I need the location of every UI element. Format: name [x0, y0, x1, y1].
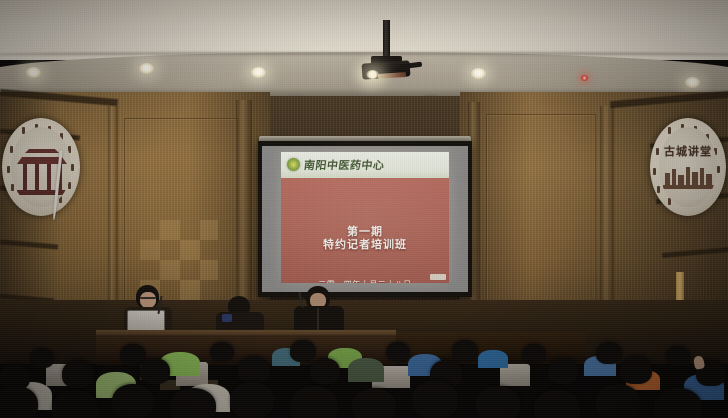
- attendee-head: [310, 358, 340, 384]
- pavilion-medallion: [2, 118, 80, 216]
- ceiling-indicator-light-icon: [581, 75, 588, 81]
- lecture-hall-photo: 古城讲堂 南阳中医药中心 第一期 特约记者培训班 二零一四年十月二: [0, 0, 728, 418]
- wall-trim-band: [0, 239, 58, 249]
- attendee-head: [352, 388, 396, 418]
- ceiling-upper-surface: [0, 0, 728, 60]
- attendee-head: [112, 384, 154, 418]
- attendee-head: [170, 388, 216, 418]
- pavilion-column: [47, 164, 51, 192]
- projector-lens-icon: [366, 70, 379, 79]
- glasses-icon: [140, 297, 156, 299]
- presenter-face: [140, 292, 156, 308]
- attendee-head: [62, 360, 94, 388]
- attendee-head: [230, 382, 274, 418]
- slide-header-bar: 南阳中医药中心: [281, 152, 449, 179]
- ceiling-downlight-icon: [139, 63, 154, 74]
- slide-organization-name: 南阳中医药中心: [303, 157, 385, 173]
- attendee-head: [654, 388, 702, 418]
- pavilion-base: [17, 190, 67, 195]
- attendee-head: [596, 342, 622, 364]
- slide-body: 第一期 特约记者培训班 二零一四年十月二十八日: [281, 178, 449, 283]
- medallion-inner-disc: 古城讲堂: [659, 127, 717, 207]
- projector-mount-pole: [383, 20, 390, 60]
- lecture-hall-medallion: 古城讲堂: [650, 118, 726, 216]
- ceiling-downlight-icon: [251, 67, 266, 78]
- ceiling-downlight-icon: [685, 77, 700, 88]
- medallion-inner-disc: [11, 127, 71, 207]
- slide-date: 二零一四年十月二十八日: [281, 279, 449, 283]
- medallion-figure: [717, 166, 720, 173]
- attendee-head: [30, 348, 54, 368]
- raised-hand: [693, 355, 705, 370]
- attendee-head: [452, 340, 478, 362]
- slide-title-line-2: 特约记者培训班: [281, 236, 449, 252]
- attendee-head: [290, 340, 316, 362]
- attendee-head: [0, 386, 38, 418]
- attendee-head: [140, 358, 170, 384]
- attendee-head: [548, 358, 578, 384]
- attendee-head: [238, 356, 270, 384]
- attendee-head: [666, 346, 690, 366]
- attendee-head: [620, 356, 652, 384]
- ceiling-seam: [0, 52, 728, 55]
- pavilion-upper-roof: [25, 149, 59, 153]
- slide-corner-badge: [430, 274, 446, 280]
- medallion-figure: [657, 186, 660, 193]
- skyline-building: [686, 167, 690, 187]
- attendee-head: [522, 344, 546, 364]
- attendee-head: [596, 384, 640, 418]
- lecture-hall-medallion-caption: 古城讲堂: [659, 143, 717, 159]
- wall-cornice-band: [610, 91, 728, 108]
- presentation-slide: 南阳中医药中心 第一期 特约记者培训班 二零一四年十月二十八日: [281, 152, 449, 283]
- seated-audience: [0, 330, 728, 418]
- projection-screen-surface: 南阳中医药中心 第一期 特约记者培训班 二零一四年十月二十八日: [262, 146, 468, 292]
- attendee-head: [476, 386, 520, 418]
- ceiling-downlight-icon: [471, 68, 486, 79]
- attendee-head: [52, 390, 98, 418]
- medallion-figure: [7, 166, 10, 173]
- attendee-head: [386, 342, 410, 362]
- ceiling-downlight-icon: [26, 67, 41, 78]
- shoulder-accent: [222, 314, 232, 322]
- attendee-head: [210, 342, 234, 362]
- medallion-figure: [71, 164, 74, 171]
- pavilion-column: [23, 164, 27, 192]
- projection-screen: 南阳中医药中心 第一期 特约记者培训班 二零一四年十月二十八日: [258, 141, 472, 297]
- attendee-head: [290, 386, 338, 418]
- attendee-shoulders: [348, 358, 384, 382]
- wall-cornice-band: [0, 89, 118, 106]
- wall-trim-band: [662, 247, 728, 258]
- medallion-figure: [668, 127, 671, 134]
- attendee-head: [534, 390, 580, 418]
- medallion-figure: [653, 168, 656, 175]
- attendee-shoulders: [478, 350, 508, 368]
- attendee-head: [412, 380, 458, 418]
- pavilion-column: [35, 164, 39, 192]
- skyline-ground: [663, 185, 715, 189]
- organization-seal-icon: [287, 158, 300, 171]
